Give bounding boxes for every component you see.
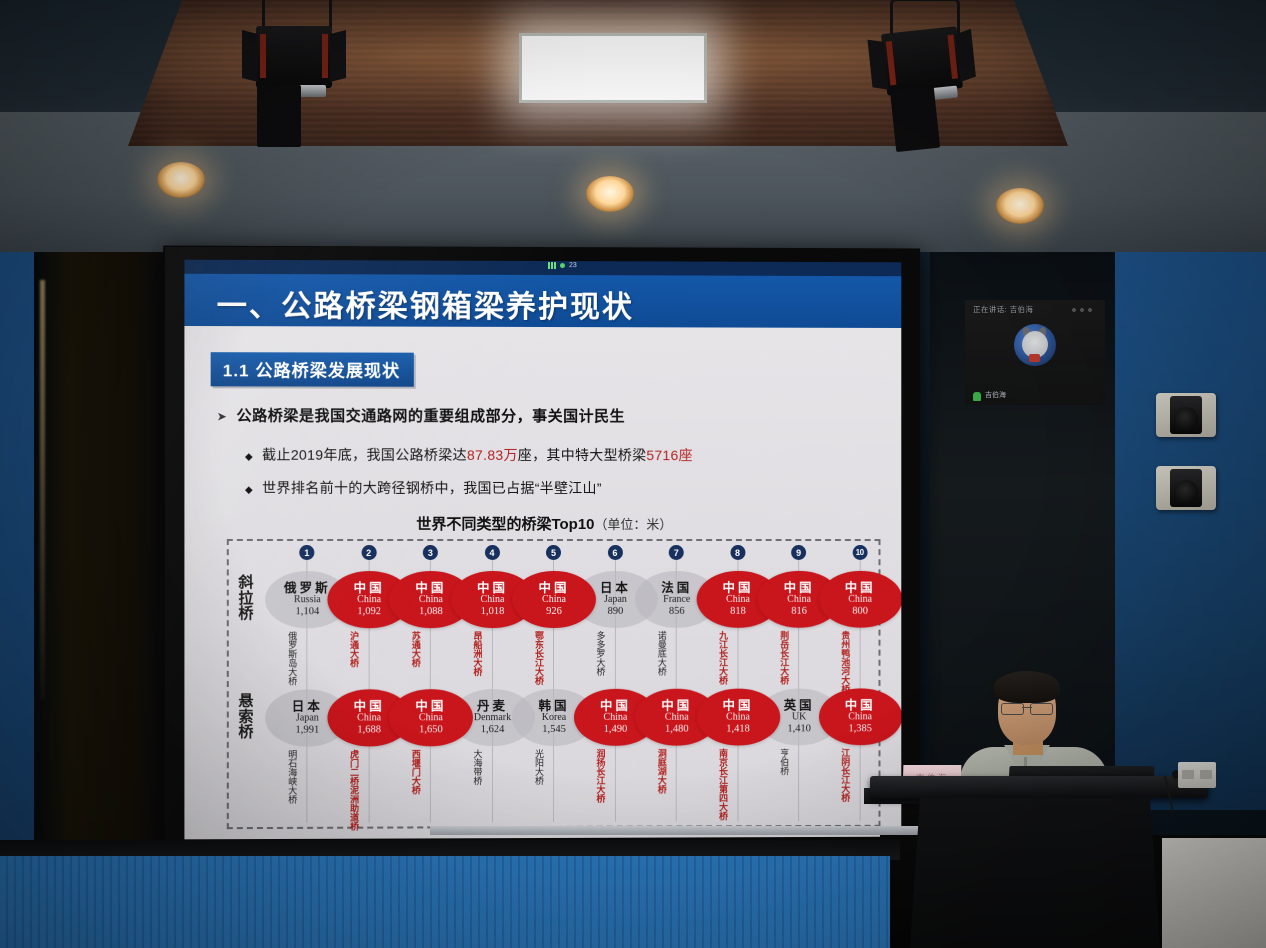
wall-trim-strip [430,826,930,835]
rank-badge-3: 3 [423,545,438,560]
country-en: China [603,713,627,724]
bridge-name-r1-2: 沪通大桥 [349,631,358,667]
span-value: 856 [669,606,685,617]
span-value: 816 [791,606,807,617]
country-cn: 中国 [477,582,508,596]
wall-power-outlet[interactable] [1178,762,1216,788]
country-en: China [726,595,750,606]
bridge-name-r2-5: 光阳大桥 [534,749,543,785]
outlet-socket [1182,770,1194,779]
rank-badge-10: 10 [852,545,867,560]
bridge-name-r1-4: 昂船洲大桥 [472,631,481,676]
dark-wall-pillar [34,245,174,870]
country-en: China [419,713,443,724]
country-en: Denmark [474,713,511,724]
country-en: France [663,595,690,606]
span-value: 1,418 [726,724,750,735]
bridge-name-r1-8: 九江长江大桥 [718,631,727,685]
bullet-1-highlight-1: 87.83万 [467,447,518,463]
country-cn: 中国 [415,582,446,596]
bridge-name-r2-1: 明石海峡大桥 [287,750,296,804]
bridge-name-r1-9: 荆岳长江大桥 [779,631,788,685]
spotlight-red-trim [322,34,328,78]
ceiling [0,0,1266,250]
glasses-icon [1001,703,1053,713]
span-value: 1,545 [542,724,566,735]
diamond-bullet-icon: ◆ [245,485,253,496]
rank-badge-7: 7 [669,545,684,560]
span-value: 1,104 [295,606,319,617]
span-value: 890 [608,606,624,617]
presenter-hair [994,671,1060,703]
country-cn: 法国 [661,582,692,595]
rank-badge-2: 2 [361,545,376,560]
ceiling-downlight [586,176,634,212]
country-en: China [357,595,381,606]
country-en: China [357,714,381,725]
ceiling-downlight [157,162,205,198]
country-cn: 中国 [784,582,815,595]
span-value: 1,018 [481,606,505,617]
podium-top-surface [870,776,1208,798]
diamond-bullet-icon: ◆ [245,452,253,463]
call-participant-name: 吉伯海 [985,390,1006,400]
country-en: China [848,712,872,723]
air-conditioner-unit [1162,838,1266,948]
span-value: 1,092 [357,606,381,617]
span-value: 1,088 [419,606,443,617]
section-badge: 1.1 公路桥梁发展现状 [211,352,415,387]
bullet-1-mid: 座，其中特大型桥梁 [518,447,647,463]
bullet-1-pre: 截止2019年底，我国公路桥梁达 [262,447,467,463]
row-label-1: 斜拉桥 [235,575,257,622]
stage-spotlight-right [881,26,963,96]
country-cn: 英国 [784,699,815,713]
arrow-bullet-icon: ➤ [217,409,228,423]
table-title-text: 世界不同类型的桥梁Top10 [416,516,594,533]
span-value: 1,688 [357,724,381,735]
bridge-name-r2-6: 润扬长江大桥 [595,749,604,803]
podium-front-panel [910,798,1160,948]
bridge-name-r2-9: 亨伯桥 [779,748,788,775]
bridge-name-r2-2: 虎门二桥泥洲助道桥 [349,749,358,830]
bridge-name-r1-7: 诺曼底大桥 [657,631,666,676]
pillar-highlight [40,280,45,700]
avatar-bowtie [1029,354,1040,362]
speaker-cone [1174,480,1198,504]
bridge-name-r2-4: 大海带桥 [472,749,481,785]
country-en: Japan [296,714,319,725]
ceiling-downlight [996,188,1044,224]
signal-bars-icon [548,262,556,269]
bullet-1-highlight-2: 5716 [646,447,678,463]
span-value: 1,624 [481,724,505,735]
bridge-ranking-chart: 12345678910斜拉桥俄罗斯Russia1,104俄罗斯岛大桥中国Chin… [227,539,881,829]
country-cn: 中国 [354,582,385,596]
span-value: 818 [730,606,746,617]
country-en: UK [792,713,806,724]
country-en: China [665,713,689,724]
rank-badge-1: 1 [299,545,314,560]
bridge-cell-r2-8: 中国China1,418 [696,689,780,746]
bullet-sub-2: ◆世界排名前十的大跨径钢桥中，我国已占据“半壁江山” [245,478,602,498]
bridge-name-r2-10: 江阴长江大桥 [840,748,849,802]
row-label-2: 悬索桥 [235,694,257,741]
wall-speaker-lower [1156,466,1216,510]
slide-title: 一、公路桥梁钢箱梁养护现状 [217,281,634,326]
bridge-cell-r2-3: 中国China1,650 [389,689,473,746]
country-en: China [419,595,443,606]
rank-badge-8: 8 [730,545,745,560]
country-en: Russia [294,595,321,606]
bridge-name-r1-3: 苏通大桥 [411,631,420,667]
bullet-1-post: 座 [679,447,693,463]
microphone-on-icon[interactable] [973,392,981,401]
lecture-hall-photo: 23 一、公路桥梁钢箱梁养护现状 1.1 公路桥梁发展现状 ➤公路桥梁是我国交通… [0,0,1266,948]
more-options-icon[interactable] [1071,308,1093,313]
span-value: 926 [546,606,562,617]
span-value: 800 [852,606,868,617]
country-cn: 俄罗斯 [284,582,331,596]
country-en: China [726,713,750,724]
rank-badge-5: 5 [546,545,561,560]
spotlight-body-right [890,86,940,152]
country-en: China [848,595,872,606]
spotlight-body-left [257,85,301,147]
span-value: 1,490 [604,724,628,735]
bridge-cell-r2-10: 中国China1,385 [818,688,901,745]
blue-acoustic-panel-wall [0,856,890,948]
stage-spotlight-left [256,26,332,88]
projection-screen: 23 一、公路桥梁钢箱梁养护现状 1.1 公路桥梁发展现状 ➤公路桥梁是我国交通… [163,246,920,849]
status-bar-items: 23 [548,262,577,269]
country-en: China [542,595,566,606]
country-en: Korea [542,713,566,724]
rank-badge-9: 9 [791,545,806,560]
glasses-lens [1001,703,1024,715]
bridge-cell-r1-5: 中国China926 [512,571,596,628]
avatar [1014,324,1056,366]
bullet-sub-1: ◆截止2019年底，我国公路桥梁达87.83万座，其中特大型桥梁5716座 [245,445,693,466]
rank-badge-6: 6 [607,545,622,560]
country-en: China [481,595,505,606]
span-value: 1,385 [848,723,871,734]
bullet-2-text: 世界排名前十的大跨径钢桥中，我国已占据“半壁江山” [262,480,602,496]
country-cn: 日本 [600,582,631,596]
country-cn: 中国 [538,582,569,596]
bridge-name-r2-3: 西堰门大桥 [411,749,420,794]
glasses-lens [1030,703,1053,715]
speaker-cone [1174,407,1198,431]
bridge-name-r1-6: 多多罗大桥 [595,631,604,676]
span-value: 1,480 [665,724,689,735]
call-speaking-label: 正在讲话: 吉伯海 [973,304,1033,315]
recording-dot-icon [560,263,565,268]
span-value: 1,410 [787,723,810,734]
barndoor-icon [330,30,346,82]
bullet-main: ➤公路桥梁是我国交通路网的重要组成部分，事关国计民生 [217,404,625,426]
bridge-name-r2-8: 南京长江第四大桥 [718,749,727,821]
barndoor-icon [242,30,258,82]
table-title: 世界不同类型的桥梁Top10（单位：米） [184,513,901,534]
status-bar-time: 23 [569,262,577,269]
slide-title-bar: 一、公路桥梁钢箱梁养护现状 [184,274,901,328]
span-value: 1,650 [419,724,443,735]
video-call-panel[interactable]: 正在讲话: 吉伯海 吉伯海 [965,300,1105,405]
wall-speaker-upper [1156,393,1216,437]
blue-wall-panel-right [1106,250,1266,810]
bridge-name-r2-7: 洞庭湖大桥 [657,749,666,794]
table-unit: （单位：米） [594,517,672,532]
slide-body: 1.1 公路桥梁发展现状 ➤公路桥梁是我国交通路网的重要组成部分，事关国计民生 … [184,326,901,839]
blue-wall-panel-left [0,230,34,870]
bridge-name-r1-5: 鄂东长江大桥 [534,631,543,685]
country-cn: 中国 [845,582,876,595]
bridge-name-r1-10: 贵州鸭池河大桥 [840,631,849,694]
country-cn: 中国 [723,582,754,595]
spotlight-red-trim [260,34,266,78]
rank-badge-4: 4 [484,545,499,560]
outlet-socket [1200,770,1212,779]
presentation-slide: 23 一、公路桥梁钢箱梁养护现状 1.1 公路桥梁发展现状 ➤公路桥梁是我国交通… [184,260,901,840]
bullet-main-text: 公路桥梁是我国交通路网的重要组成部分，事关国计民生 [236,407,625,425]
bridge-cell-r1-10: 中国China800 [818,571,901,628]
ceiling-panel-light [519,33,707,103]
country-en: Japan [604,595,627,606]
country-en: China [787,595,811,606]
bridge-name-r1-1: 俄罗斯岛大桥 [287,631,296,685]
span-value: 1,991 [295,724,319,735]
